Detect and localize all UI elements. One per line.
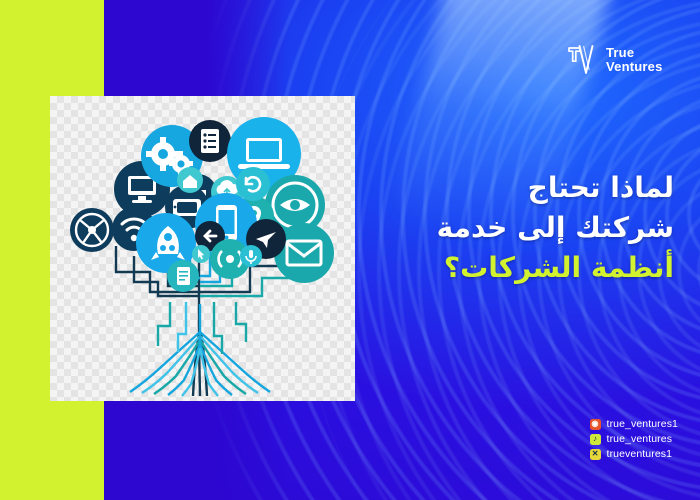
brand-logo[interactable]: True Ventures (565, 42, 663, 78)
brand-name: True Ventures (606, 46, 663, 74)
headline-line-1: لماذا تحتاج (254, 168, 674, 208)
poster-canvas: .ln-d{stroke:#123a52;stroke-width:2.4;fi… (0, 0, 700, 500)
tiktok-icon: ♪ (590, 434, 601, 445)
social-handle-tiktok: true_ventures (607, 433, 673, 445)
headline: لماذا تحتاج شركتك إلى خدمة أنظمة الشركات… (254, 168, 674, 288)
social-row-tiktok[interactable]: ♪ true_ventures (590, 433, 673, 445)
social-row-instagram[interactable]: ◉ true_ventures1 (590, 418, 678, 430)
social-handle-x: trueventures1 (607, 448, 673, 460)
social-handle-instagram: true_ventures1 (607, 418, 678, 430)
home-icon (177, 167, 203, 193)
social-handles: ◉ true_ventures1 ♪ true_ventures ✕ truev… (590, 418, 678, 460)
mouse-pointer-icon (192, 245, 210, 263)
instagram-icon: ◉ (590, 419, 601, 430)
satellite-dish-icon (70, 208, 114, 252)
headline-line-2: شركتك إلى خدمة (254, 208, 674, 248)
tv-monogram-icon (565, 42, 599, 78)
brand-name-line2: Ventures (606, 60, 663, 74)
x-twitter-icon: ✕ (590, 449, 601, 460)
headline-line-3: أنظمة الشركات؟ (254, 248, 674, 288)
social-row-x[interactable]: ✕ trueventures1 (590, 448, 673, 460)
document-list-icon (189, 120, 231, 162)
file-icon (167, 260, 199, 292)
brand-name-line1: True (606, 46, 663, 60)
